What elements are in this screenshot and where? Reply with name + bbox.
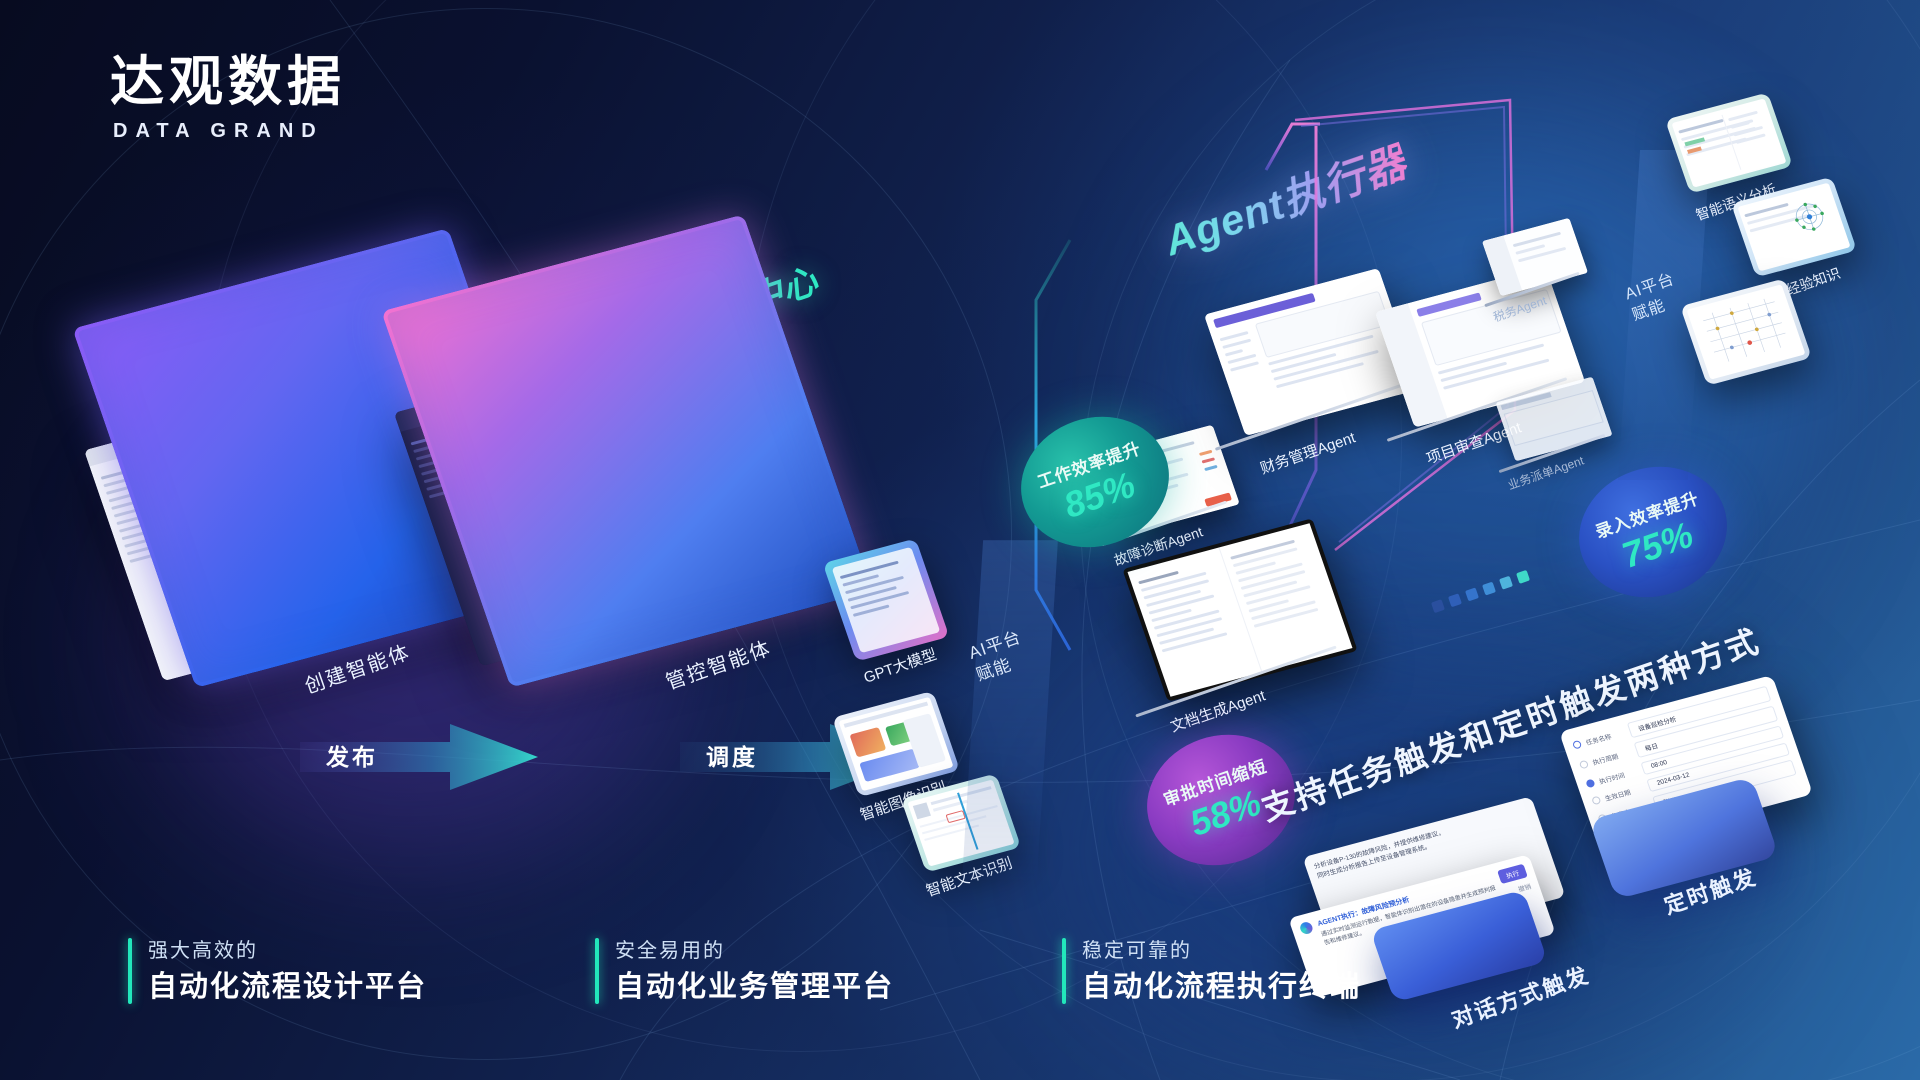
ai-platform-pillar-left	[962, 540, 1058, 880]
radio-icon[interactable]	[1591, 795, 1601, 805]
feature-title: 自动化流程设计平台	[148, 971, 427, 1004]
feature-subtitle: 安全易用的	[615, 938, 894, 964]
executor-progress-dots	[1431, 570, 1530, 613]
brand-logo: 达观数据 DATA GRAND	[110, 52, 346, 143]
radio-icon[interactable]	[1585, 778, 1595, 788]
flow-arrow-schedule-label: 调度	[706, 738, 758, 772]
feature-subtitle: 强大高效的	[148, 938, 427, 964]
feature-title: 自动化业务管理平台	[615, 971, 894, 1004]
agent-avatar-icon	[1299, 921, 1315, 935]
schedule-row-label: 任务名称	[1584, 727, 1626, 747]
feature-accent-bar	[128, 938, 132, 1004]
feature-item: 稳定可靠的 自动化流程执行终端	[1062, 938, 1361, 1004]
label-finance-agent: 财务管理Agent	[1257, 426, 1358, 478]
device-finance-agent	[1204, 268, 1420, 436]
feature-accent-bar	[595, 938, 599, 1004]
schedule-row-label: 执行周期	[1591, 747, 1633, 767]
section-title-exec: Agent执行器	[1155, 128, 1414, 268]
feature-item: 强大高效的 自动化流程设计平台	[128, 938, 427, 1004]
radio-icon[interactable]	[1572, 740, 1582, 750]
flow-arrow-publish-label: 发布	[326, 738, 378, 772]
feature-title: 自动化流程执行终端	[1082, 971, 1361, 1004]
flow-arrow-publish: 发布	[300, 716, 550, 801]
logo-cn: 达观数据	[110, 52, 346, 112]
feature-subtitle: 稳定可靠的	[1082, 938, 1361, 964]
chat-action-button[interactable]: 执行	[1497, 864, 1528, 884]
infographic-canvas: 达观数据 DATA GRAND Agent开发平台	[0, 0, 1920, 1080]
feature-item: 安全易用的 自动化业务管理平台	[595, 938, 894, 1004]
feature-list: 强大高效的 自动化流程设计平台 安全易用的 自动化业务管理平台 稳定可靠的 自动…	[128, 938, 1361, 1004]
tile-semantic-analysis	[1665, 92, 1793, 193]
chat-secondary-button[interactable]: 撤销	[1517, 881, 1533, 894]
device-tax-agent	[1482, 218, 1588, 296]
radio-icon[interactable]	[1579, 760, 1589, 770]
feature-accent-bar	[1062, 938, 1066, 1004]
logo-en: DATA GRAND	[113, 120, 346, 143]
